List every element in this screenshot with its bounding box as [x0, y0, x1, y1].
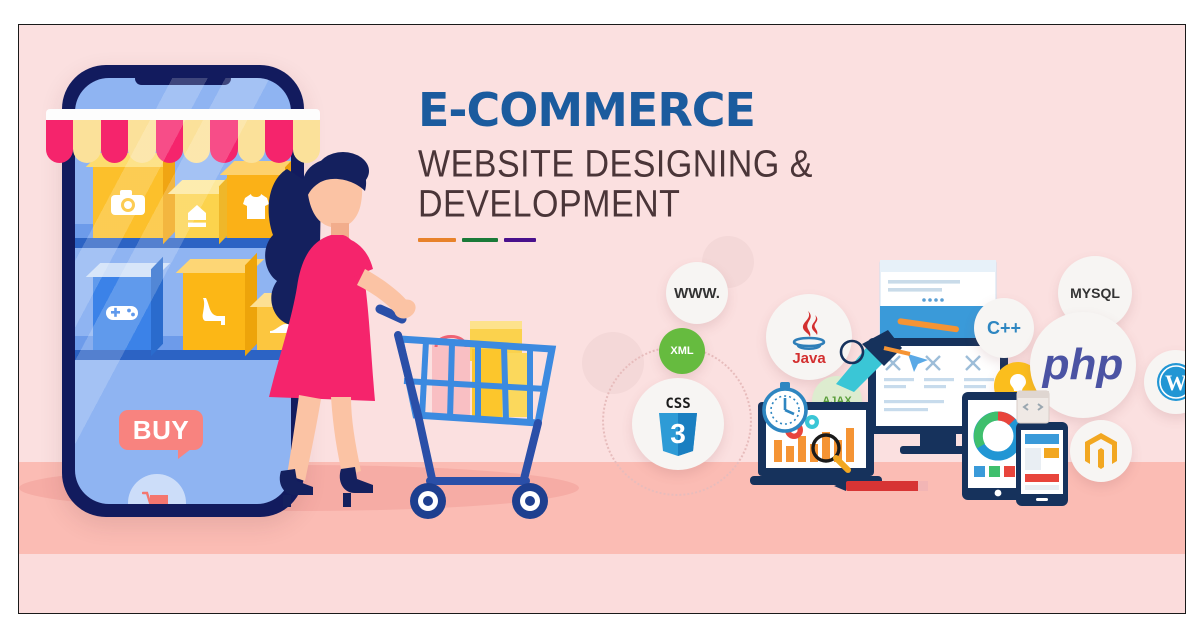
- svg-text:CSS: CSS: [665, 396, 690, 412]
- stopwatch-icon: [760, 380, 810, 434]
- ground-band-light: [19, 554, 1185, 613]
- wordpress-logo-icon: W: [1155, 361, 1185, 403]
- accent-rule-segment-purple: [504, 238, 536, 242]
- accent-rule: [418, 238, 536, 242]
- svg-text:Java: Java: [792, 350, 826, 365]
- magento-badge[interactable]: [1070, 420, 1132, 482]
- banner-frame: E-COMMERCE WEBSITE DESIGNING & DEVELOPME…: [18, 24, 1186, 614]
- xml-badge[interactable]: XML: [659, 328, 705, 374]
- product-box-bag[interactable]: [175, 193, 219, 238]
- cplusplus-badge[interactable]: C++: [974, 298, 1034, 358]
- css3-logo-icon: CSS 3: [651, 391, 705, 457]
- magento-logo-icon: [1084, 432, 1118, 470]
- gamepad-icon: [105, 303, 139, 323]
- ecommerce-banner: E-COMMERCE WEBSITE DESIGNING & DEVELOPME…: [0, 0, 1200, 628]
- phone-speaker: [135, 72, 231, 85]
- svg-text:W: W: [1165, 370, 1185, 395]
- wordpress-badge[interactable]: W: [1144, 350, 1185, 414]
- banner-stage: E-COMMERCE WEBSITE DESIGNING & DEVELOPME…: [19, 25, 1185, 613]
- product-box-gamepad[interactable]: [93, 276, 151, 350]
- bag-icon: [185, 203, 209, 229]
- buy-button-label: BUY: [133, 415, 189, 446]
- page-title: E-COMMERCE: [418, 87, 1018, 133]
- heel-icon: [197, 295, 231, 327]
- headline-block: E-COMMERCE WEBSITE DESIGNING & DEVELOPME…: [418, 87, 1018, 242]
- page-subtitle: WEBSITE DESIGNING & DEVELOPMENT: [418, 145, 1018, 225]
- pen-tool-icon: [826, 326, 912, 392]
- product-box-camera[interactable]: [93, 166, 163, 238]
- accent-rule-segment-green: [462, 238, 498, 242]
- cart-button[interactable]: [128, 474, 186, 504]
- tech-stack-cluster: WWW. XML Java: [564, 250, 1185, 520]
- buy-button[interactable]: BUY: [119, 410, 203, 450]
- camera-icon: [110, 189, 146, 216]
- woman-shopper: [247, 151, 427, 523]
- pencil-icon: [832, 476, 930, 496]
- css3-badge[interactable]: CSS 3: [632, 378, 724, 470]
- svg-text:3: 3: [670, 418, 686, 449]
- browser-window-icon: [1016, 390, 1050, 424]
- www-badge[interactable]: WWW.: [666, 262, 728, 324]
- smartphone[interactable]: [1016, 422, 1068, 506]
- product-box-heel[interactable]: [183, 272, 245, 350]
- shopping-cart-icon: [142, 490, 172, 504]
